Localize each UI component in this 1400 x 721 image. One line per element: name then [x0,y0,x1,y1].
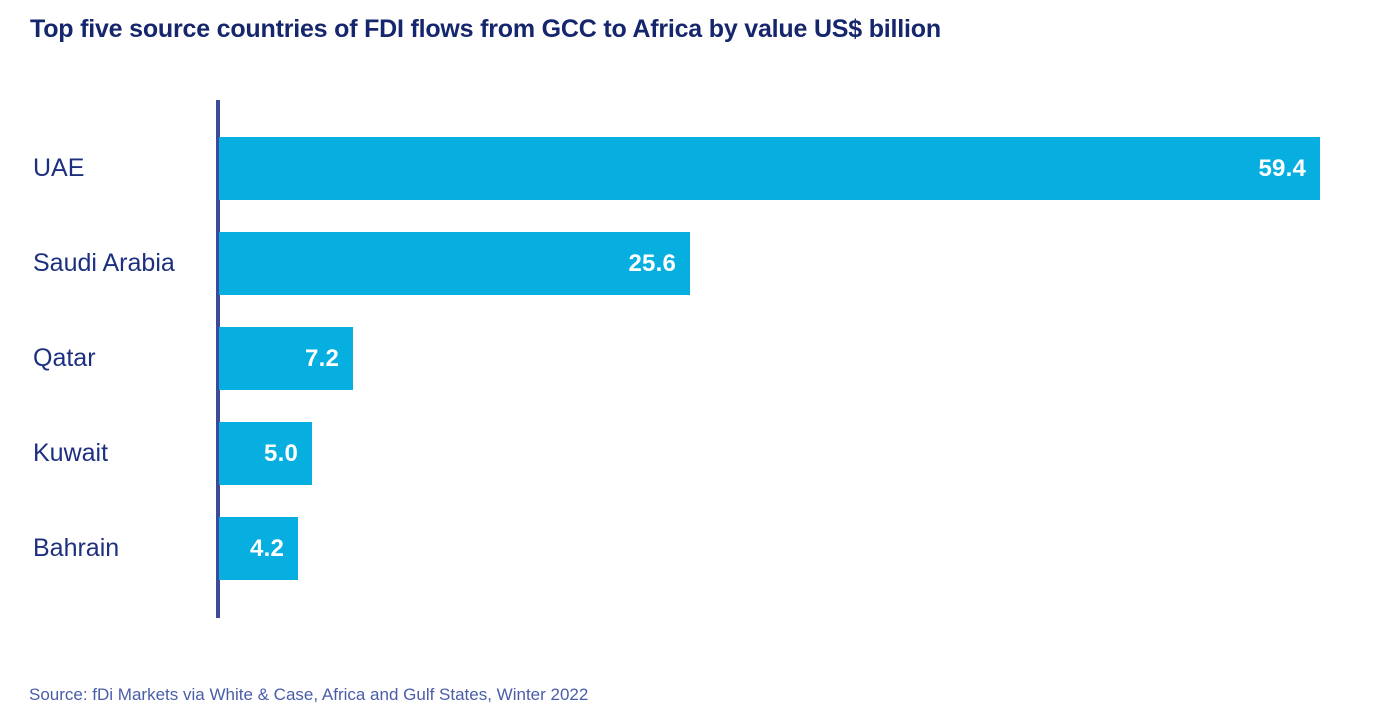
category-label-bahrain: Bahrain [0,517,186,580]
bar-value-saudi-arabia: 25.6 [628,250,690,278]
category-label-kuwait: Kuwait [0,422,186,485]
category-label-uae: UAE [0,137,186,200]
bar-value-qatar: 7.2 [305,345,353,373]
bar-row: Kuwait 5.0 [0,422,1400,485]
bar-value-kuwait: 5.0 [264,440,312,468]
bar-value-bahrain: 4.2 [250,535,298,563]
bar-kuwait[interactable]: 5.0 [219,422,312,485]
bar-value-uae: 59.4 [1258,155,1320,183]
bar-qatar[interactable]: 7.2 [219,327,353,390]
plot-area: UAE 59.4 Saudi Arabia 25.6 Qatar 7.2 Kuw… [0,100,1400,620]
category-label-saudi-arabia: Saudi Arabia [0,232,186,295]
bar-bahrain[interactable]: 4.2 [219,517,298,580]
chart-figure: Top five source countries of FDI flows f… [0,0,1400,721]
bar-row: Saudi Arabia 25.6 [0,232,1400,295]
bar-row: Qatar 7.2 [0,327,1400,390]
category-label-qatar: Qatar [0,327,186,390]
bar-row: UAE 59.4 [0,137,1400,200]
bar-row: Bahrain 4.2 [0,517,1400,580]
bars-layer: UAE 59.4 Saudi Arabia 25.6 Qatar 7.2 Kuw… [0,100,1400,618]
source-note: Source: fDi Markets via White & Case, Af… [29,685,588,705]
bar-uae[interactable]: 59.4 [219,137,1320,200]
bar-saudi-arabia[interactable]: 25.6 [219,232,690,295]
page-title: Top five source countries of FDI flows f… [30,13,1370,45]
